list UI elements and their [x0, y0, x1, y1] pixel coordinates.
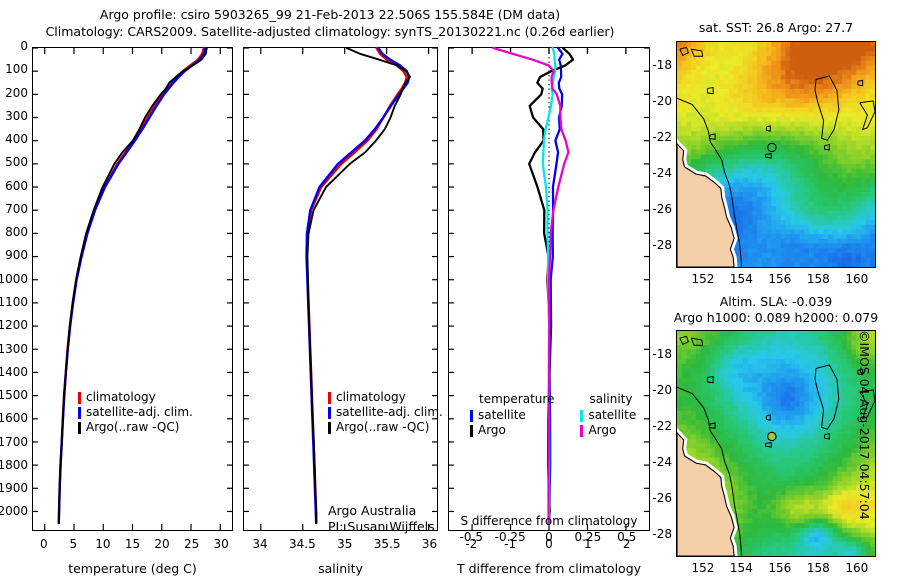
depth-tick-200: 200	[0, 86, 28, 100]
legend-label: Argo	[588, 423, 616, 438]
legend-row: satellite	[470, 408, 554, 423]
depth-tick-1000: 1000	[0, 272, 28, 286]
legend-row: climatology	[78, 390, 193, 405]
legend-label: Argo	[478, 423, 506, 438]
legend-swatch-climatology	[78, 392, 81, 404]
title-line-1: Argo profile: csiro 5903265_99 21-Feb-20…	[0, 6, 660, 23]
depth-tick-1700: 1700	[0, 435, 28, 449]
difference-legend: temperaturesatelliteArgosalinitysatellit…	[470, 392, 654, 438]
argo-australia-note: Argo Australia PI: Susan Wijffels	[328, 503, 435, 535]
depth-tick-1800: 1800	[0, 458, 28, 472]
sla-title-line-2: Argo h1000: 0.089 h2000: 0.079	[656, 310, 896, 326]
sst-map-ytick--22: -22	[642, 130, 672, 144]
sal-xtick-36: 36	[408, 537, 452, 551]
sla-map-ytick--22: -22	[642, 419, 672, 433]
difference-plot-area	[449, 48, 649, 530]
legend-label: Argo(..raw -QC)	[336, 420, 429, 435]
legend-swatch-satellite_adj	[470, 410, 473, 422]
t-diff-tick-2: 2	[609, 537, 645, 551]
salinity-profile-panel[interactable]	[243, 47, 438, 531]
sla-map-xtick-152: 152	[687, 561, 719, 575]
t-diff-tick--1: -1	[492, 537, 528, 551]
salinity-plot-area	[244, 48, 437, 530]
t-diff-tick--2: -2	[453, 537, 489, 551]
sal-xtick-34.5: 34.5	[280, 537, 324, 551]
legend-swatch-satellite_adj	[328, 407, 331, 419]
legend-swatch-climatology	[328, 392, 331, 404]
copyright-label: ©IMOS 04-Aug-2017 04:57:04	[857, 330, 872, 560]
legend-swatch-argo	[470, 425, 473, 437]
t-diff-tick-1: 1	[570, 537, 606, 551]
salinity-axis-label: salinity	[243, 561, 438, 576]
depth-tick-1300: 1300	[0, 342, 28, 356]
legend-label: climatology	[336, 390, 406, 405]
legend-label: satellite-adj. clim.	[86, 405, 193, 420]
depth-tick-1100: 1100	[0, 295, 28, 309]
legend-swatch-satellite_adj	[78, 407, 81, 419]
sst-map-title: sat. SST: 26.8 Argo: 27.7	[656, 20, 896, 36]
temperature-axis-label: temperature (deg C)	[32, 561, 233, 576]
sla-map-xtick-156: 156	[764, 561, 796, 575]
sla-map-xtick-154: 154	[725, 561, 757, 575]
sla-map-ytick--20: -20	[642, 383, 672, 397]
legend-row: Argo(..raw -QC)	[328, 420, 443, 435]
legend-heading: temperature	[479, 392, 554, 407]
temperature-profile-panel[interactable]	[32, 47, 233, 531]
sal-xtick-35: 35	[323, 537, 367, 551]
depth-tick-1900: 1900	[0, 481, 28, 495]
legend-label: satellite-adj. clim.	[336, 405, 443, 420]
depth-tick-600: 600	[0, 179, 28, 193]
depth-tick-700: 700	[0, 202, 28, 216]
legend-swatch-argo	[78, 422, 81, 434]
legend-label: satellite	[588, 408, 636, 423]
sla-map-xtick-160: 160	[841, 561, 873, 575]
legend-label: satellite	[478, 408, 526, 423]
note-line-1: Argo Australia	[328, 503, 435, 519]
legend-row: Argo	[470, 423, 554, 438]
sst-map-ytick--28: -28	[642, 238, 672, 252]
depth-tick-1400: 1400	[0, 365, 28, 379]
sst-map-ytick--20: -20	[642, 94, 672, 108]
legend-swatch-salinity_argo	[580, 425, 583, 437]
sla-map-canvas	[677, 331, 875, 556]
sst-map-xtick-156: 156	[764, 272, 796, 286]
legend-label: climatology	[86, 390, 156, 405]
temperature-plot-area	[33, 48, 232, 530]
sst-map-xtick-158: 158	[802, 272, 834, 286]
sla-map[interactable]	[676, 330, 876, 557]
temperature-legend: climatologysatellite-adj. clim.Argo(..ra…	[78, 390, 193, 435]
depth-tick-1600: 1600	[0, 411, 28, 425]
sst-map[interactable]	[676, 41, 876, 268]
title-line-2: Climatology: CARS2009. Satellite-adjuste…	[0, 23, 660, 40]
sst-map-ytick--18: -18	[642, 58, 672, 72]
depth-tick-500: 500	[0, 155, 28, 169]
depth-tick-2000: 2000	[0, 504, 28, 518]
depth-tick-0: 0	[0, 39, 28, 53]
legend-row: Argo(..raw -QC)	[78, 420, 193, 435]
depth-tick-1200: 1200	[0, 318, 28, 332]
sst-map-xtick-152: 152	[687, 272, 719, 286]
sla-title-line-1: Altim. SLA: -0.039	[656, 294, 896, 310]
sal-xtick-34: 34	[238, 537, 282, 551]
sla-map-ytick--18: -18	[642, 347, 672, 361]
depth-tick-100: 100	[0, 62, 28, 76]
legend-swatch-argo	[328, 422, 331, 434]
temp-xtick-30: 30	[203, 537, 239, 551]
sst-map-ytick--24: -24	[642, 166, 672, 180]
depth-tick-1500: 1500	[0, 388, 28, 402]
sla-map-ytick--28: -28	[642, 527, 672, 541]
page-title: Argo profile: csiro 5903265_99 21-Feb-20…	[0, 6, 660, 40]
sla-map-ytick--24: -24	[642, 455, 672, 469]
s-difference-axis-label: S difference from climatology	[448, 514, 650, 528]
sst-map-canvas	[677, 42, 875, 267]
sla-map-ytick--26: -26	[642, 491, 672, 505]
legend-swatch-salinity_satellite	[580, 410, 583, 422]
depth-tick-400: 400	[0, 132, 28, 146]
legend-label: Argo(..raw -QC)	[86, 420, 179, 435]
depth-tick-300: 300	[0, 109, 28, 123]
legend-row: satellite-adj. clim.	[78, 405, 193, 420]
depth-tick-900: 900	[0, 248, 28, 262]
legend-group-temperature: temperaturesatelliteArgo	[470, 392, 554, 438]
sal-xtick-35.5: 35.5	[365, 537, 409, 551]
sla-map-xtick-158: 158	[802, 561, 834, 575]
sst-map-xtick-160: 160	[841, 272, 873, 286]
depth-tick-800: 800	[0, 225, 28, 239]
sst-map-ytick--26: -26	[642, 202, 672, 216]
t-difference-axis-label: T difference from climatology	[448, 561, 650, 576]
salinity-legend: climatologysatellite-adj. clim.Argo(..ra…	[328, 390, 443, 435]
difference-profile-panel[interactable]	[448, 47, 650, 531]
t-diff-tick-0: 0	[531, 537, 567, 551]
note-line-2: PI: Susan Wijffels	[328, 519, 435, 535]
legend-row: climatology	[328, 390, 443, 405]
sla-map-title: Altim. SLA: -0.039 Argo h1000: 0.089 h20…	[656, 294, 896, 326]
sst-map-xtick-154: 154	[725, 272, 757, 286]
legend-row: satellite-adj. clim.	[328, 405, 443, 420]
